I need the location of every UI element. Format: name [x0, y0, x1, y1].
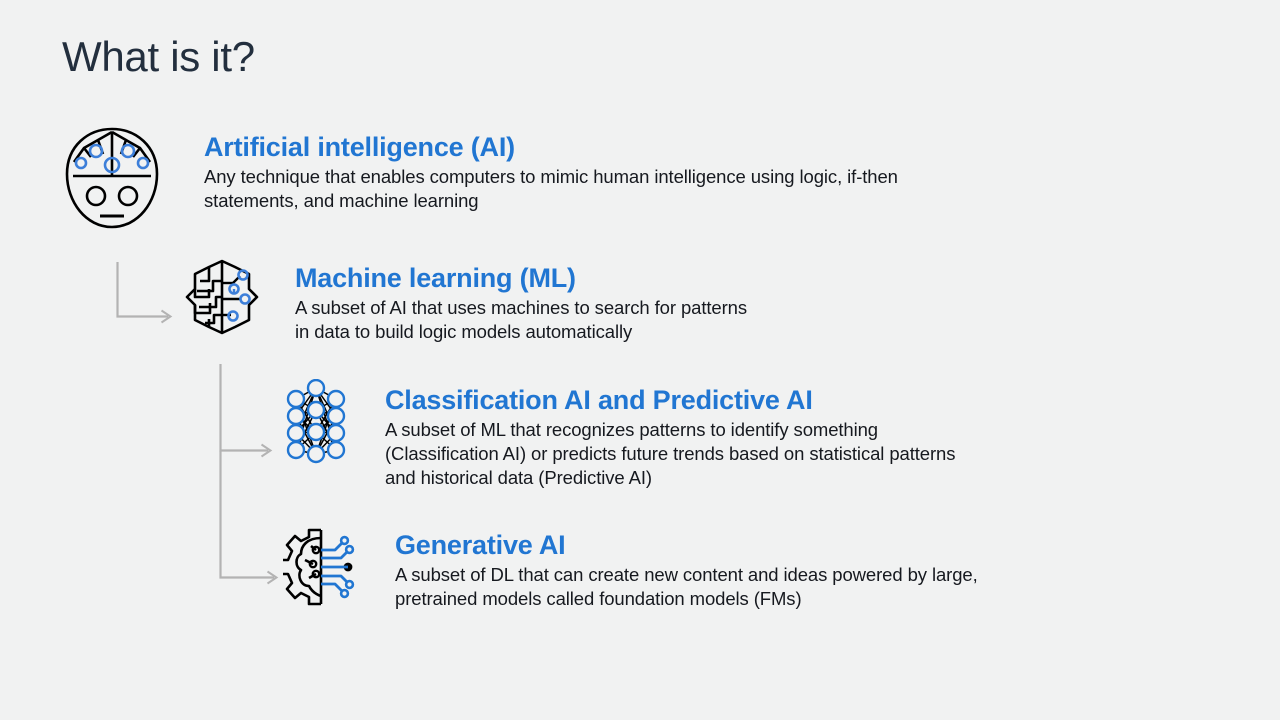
- body-generative-ai: A subset of DL that can create new conte…: [395, 563, 978, 610]
- hexagon-brain-circuit-icon: [183, 257, 261, 337]
- gear-brain-circuit-icon: [283, 524, 355, 614]
- heading-machine-learning: Machine learning (ML): [295, 263, 747, 293]
- entry-text-generative-ai: Generative AI A subset of DL that can cr…: [395, 530, 978, 611]
- body-classification-predictive-ai: A subset of ML that recognizes patterns …: [385, 418, 955, 489]
- entry-text-artificial-intelligence: Artificial intelligence (AI) Any techniq…: [204, 132, 898, 213]
- entry-text-machine-learning: Machine learning (ML) A subset of AI tha…: [295, 263, 747, 344]
- robot-head-brain-icon: [62, 126, 162, 230]
- connector-ai-to-ml: [118, 262, 171, 323]
- page-title: What is it?: [62, 36, 255, 78]
- heading-classification-predictive-ai: Classification AI and Predictive AI: [385, 385, 955, 415]
- entry-generative-ai: Generative AI A subset of DL that can cr…: [283, 524, 978, 614]
- entry-machine-learning: Machine learning (ML) A subset of AI tha…: [183, 257, 747, 344]
- entry-classification-predictive-ai: Classification AI and Predictive AI A su…: [285, 379, 955, 489]
- body-artificial-intelligence: Any technique that enables computers to …: [204, 165, 898, 212]
- entry-text-classification-predictive-ai: Classification AI and Predictive AI A su…: [385, 385, 955, 489]
- neural-network-icon: [285, 379, 347, 467]
- heading-generative-ai: Generative AI: [395, 530, 978, 560]
- entry-artificial-intelligence: Artificial intelligence (AI) Any techniq…: [62, 126, 898, 230]
- connector-ml-to-classification: [221, 364, 271, 457]
- heading-artificial-intelligence: Artificial intelligence (AI): [204, 132, 898, 162]
- body-machine-learning: A subset of AI that uses machines to sea…: [295, 296, 747, 343]
- slide-canvas: What is it?: [0, 0, 1280, 720]
- connector-ml-to-generative: [221, 451, 277, 584]
